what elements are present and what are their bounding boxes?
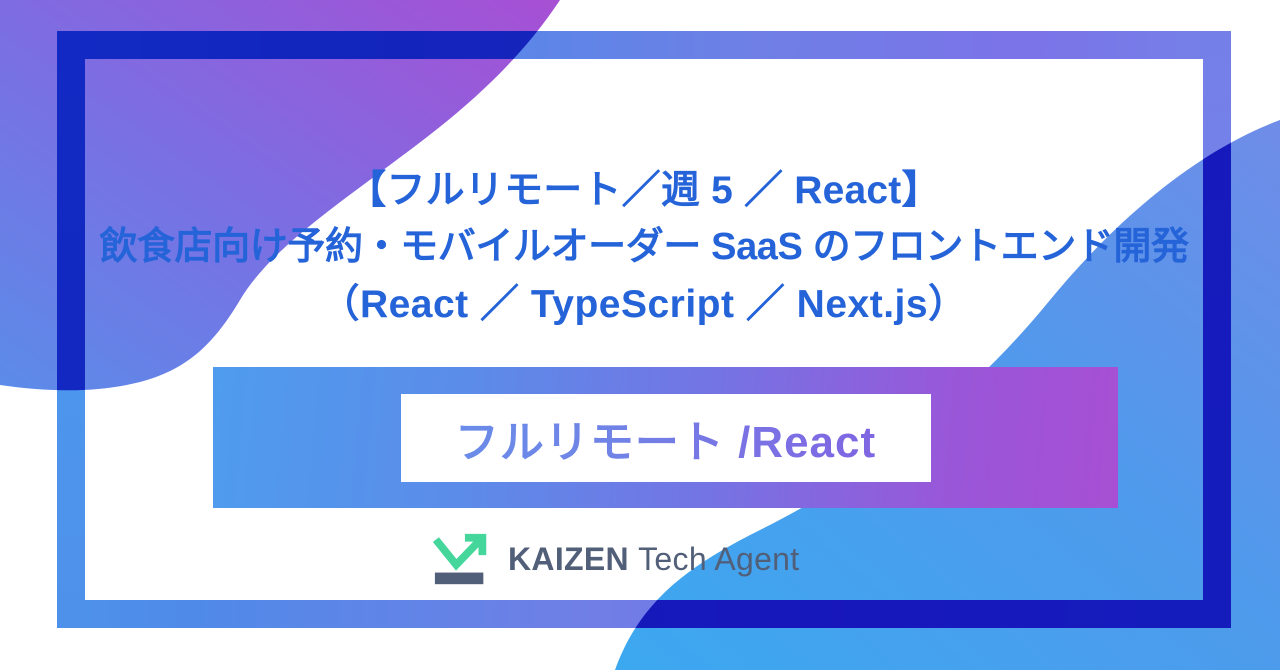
headline-line-1: 【フルリモート／週 5 ／ React】 xyxy=(89,162,1199,219)
brand-suffix: Tech Agent xyxy=(638,541,799,577)
tag-banner: フルリモート /React xyxy=(213,367,1118,508)
headline-line-3: （React ／ TypeScript ／ Next.js） xyxy=(89,276,1199,333)
headline-line-2: 飲食店向け予約・モバイルオーダー SaaS のフロントエンド開発 xyxy=(89,219,1199,276)
brand-name: KAIZEN xyxy=(508,541,629,577)
page-title: 【フルリモート／週 5 ／ React】 飲食店向け予約・モバイルオーダー Sa… xyxy=(89,162,1199,333)
brand-logo: KAIZEN Tech Agent xyxy=(432,519,852,599)
logo-base-bar xyxy=(435,573,483,585)
promo-card: 【フルリモート／週 5 ／ React】 飲食店向け予約・モバイルオーダー Sa… xyxy=(0,0,1280,670)
tag-banner-inner: フルリモート /React xyxy=(401,394,931,482)
brand-logo-text: KAIZEN Tech Agent xyxy=(508,541,799,578)
card-content: 【フルリモート／週 5 ／ React】 飲食店向け予約・モバイルオーダー Sa… xyxy=(85,59,1203,600)
growth-arrow-icon xyxy=(432,528,494,590)
arrow-check-stroke xyxy=(436,540,481,565)
tag-banner-label: フルリモート /React xyxy=(455,406,876,470)
